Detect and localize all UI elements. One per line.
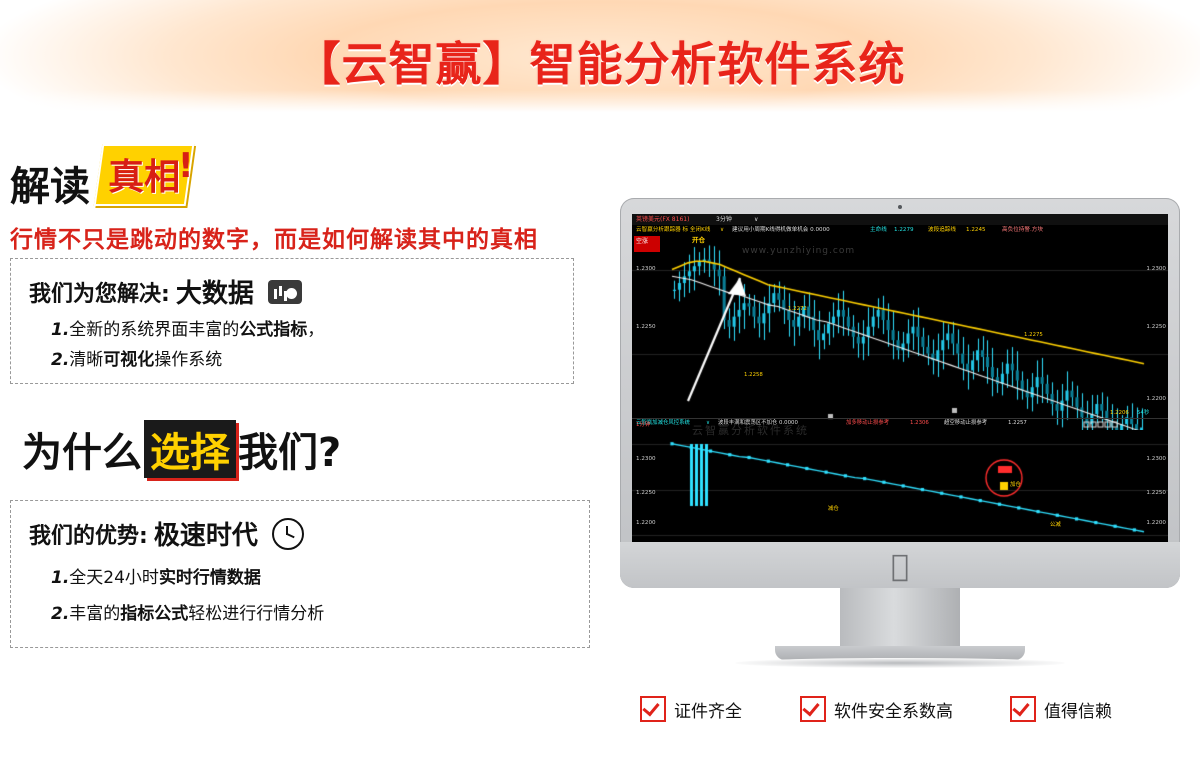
y-axis-tick-1: 1.2250 bbox=[1146, 324, 1166, 331]
sub-y-axis-left-tick-2: 1.2200 bbox=[636, 520, 656, 527]
trust-badge-2: 值得信赖 bbox=[1010, 696, 1112, 722]
benefits-item-1-text-b: 公式指标 bbox=[239, 320, 307, 340]
subpane-item-1-label: 超空移动止损参考 bbox=[944, 420, 987, 427]
benefits-item-2-text-a: 清晰 bbox=[69, 350, 103, 370]
benefits-item-1-num: 1. bbox=[51, 320, 69, 340]
subpane-item-0-value: 1.2306 bbox=[910, 420, 929, 427]
benefits-item-2-num: 2. bbox=[51, 350, 69, 370]
imac-stand bbox=[840, 588, 960, 648]
indicator-item-1-value: 1.2245 bbox=[966, 227, 986, 234]
sub-y-axis-tick-1: 1.2250 bbox=[1146, 490, 1166, 497]
sub-y-axis-tick-2: 1.2200 bbox=[1146, 520, 1166, 527]
trust-badge-2-label: 值得信赖 bbox=[1044, 697, 1112, 722]
benefits-heading-strong: 大数据 bbox=[176, 273, 254, 310]
y-axis-tick-0: 1.2300 bbox=[1146, 266, 1166, 273]
benefits-item-2: 2.清晰可视化操作系统 bbox=[51, 345, 222, 370]
watermark-top: www.yunzhiying.com bbox=[742, 246, 855, 257]
indicator-item-0-label: 主命线 bbox=[870, 227, 887, 234]
advantages-item-1-num: 1. bbox=[51, 568, 69, 588]
advantages-item-2-text-c: 轻松进行行情分析 bbox=[188, 604, 324, 624]
trading-terminal: 英镑美元(FX 8161) 3分钟 ∨ 云智赢分析跟踪器 标 全闭K线 ∨ 建议… bbox=[632, 214, 1168, 542]
imac-body: 英镑美元(FX 8161) 3分钟 ∨ 云智赢分析跟踪器 标 全闭K线 ∨ 建议… bbox=[620, 198, 1180, 588]
trust-badges: 证件齐全 软件安全系数高 值得信赖 bbox=[620, 690, 1180, 730]
benefits-item-2-text-b: 可视化 bbox=[103, 350, 154, 370]
pane-divider bbox=[632, 418, 1168, 419]
period-selector[interactable]: 3分钟 bbox=[716, 216, 732, 224]
imac-screen: 英镑美元(FX 8161) 3分钟 ∨ 云智赢分析跟踪器 标 全闭K线 ∨ 建议… bbox=[632, 214, 1168, 542]
short-signal-label: 空涨 bbox=[636, 238, 648, 246]
subpane-tag-bottom: 公减 bbox=[1050, 522, 1061, 529]
why-heading: 为什么 选择 我们? bbox=[22, 420, 341, 478]
price-tag-right: 1.2275 bbox=[1024, 332, 1043, 339]
indicator-name: 云智赢分析跟踪器 标 全闭K线 bbox=[636, 227, 710, 234]
trust-badge-0: 证件齐全 bbox=[640, 696, 742, 722]
trust-badge-0-label: 证件齐全 bbox=[674, 697, 742, 722]
check-icon bbox=[640, 696, 666, 722]
subpane-tag-reduce: 减仓 bbox=[828, 506, 839, 513]
y-axis-left-tick-1: 1.2250 bbox=[636, 324, 656, 331]
subpane-item-0-label: 加多移动止损参考 bbox=[846, 420, 889, 427]
poster-root: 【云智赢】智能分析软件系统 解读 真相 ! 行情不只是跳动的数字，而是如何解读其… bbox=[0, 0, 1200, 774]
advantages-item-2: 2.丰富的指标公式轻松进行行情分析 bbox=[51, 599, 324, 624]
check-icon bbox=[800, 696, 826, 722]
open-position-label: 开仓 bbox=[692, 236, 705, 244]
camera-icon bbox=[898, 205, 902, 209]
benefits-item-1-text-c: ， bbox=[307, 320, 324, 340]
sub-y-axis-left-tick-0: 1.2300 bbox=[636, 456, 656, 463]
trust-badge-1: 软件安全系数高 bbox=[800, 696, 953, 722]
imac-shadow bbox=[735, 658, 1065, 668]
page-title: 【云智赢】智能分析软件系统 bbox=[0, 28, 1200, 94]
indicator-name-caret-icon[interactable]: ∨ bbox=[720, 227, 724, 234]
advantages-heading: 我们的优势: 极速时代 bbox=[29, 515, 304, 552]
apple-logo-icon:  bbox=[887, 552, 913, 582]
benefits-heading-prefix: 我们为您解决: bbox=[29, 276, 170, 308]
advantages-item-1-text-a: 全天24小时 bbox=[69, 568, 159, 588]
why-suffix: 我们? bbox=[238, 420, 341, 478]
subpane-left-label: 1分钟 bbox=[636, 422, 650, 429]
clock-icon bbox=[272, 518, 304, 550]
advantages-item-2-text-b: 指标公式 bbox=[120, 604, 188, 624]
indicator-item-2-label: 高负位持警.方块 bbox=[1002, 227, 1043, 234]
risk-chart-canvas bbox=[632, 430, 1168, 540]
imac-mockup: 英镑美元(FX 8161) 3分钟 ∨ 云智赢分析跟踪器 标 全闭K线 ∨ 建议… bbox=[620, 198, 1180, 668]
benefits-heading: 我们为您解决: 大数据 bbox=[29, 273, 302, 310]
symbol-label: 英镑美元(FX 8161) bbox=[636, 216, 689, 224]
watermark-mid: 云智赢分析软件系统 bbox=[692, 424, 809, 438]
chevron-down-icon[interactable]: ∨ bbox=[754, 216, 758, 224]
why-prefix: 为什么 bbox=[22, 420, 142, 478]
header-band: 【云智赢】智能分析软件系统 bbox=[0, 0, 1200, 112]
advantages-item-2-num: 2. bbox=[51, 604, 69, 624]
price-tag-last: 1.2206 bbox=[1110, 410, 1129, 417]
check-icon bbox=[1010, 696, 1036, 722]
indicator-item-1-label: 波段追踪线 bbox=[928, 227, 956, 234]
benefits-item-1-text-a: 全新的系统界面丰富的 bbox=[69, 320, 239, 340]
left-content: 解读 真相 ! 行情不只是跳动的数字，而是如何解读其中的真相 我们为您解决: 大… bbox=[0, 120, 600, 760]
price-tag-low: 1.2258 bbox=[744, 372, 763, 379]
advantages-item-1: 1.全天24小时实时行情数据 bbox=[51, 563, 261, 588]
benefits-box: 我们为您解决: 大数据 1.全新的系统界面丰富的公式指标， 2.清晰可视化操作系… bbox=[10, 258, 574, 384]
benefits-item-1: 1.全新的系统界面丰富的公式指标， bbox=[51, 315, 324, 340]
y-axis-tick-2: 1.2200 bbox=[1146, 396, 1166, 403]
subpane-tag-add: 加仓 bbox=[1010, 482, 1021, 489]
read-truth-prefix: 解读 bbox=[10, 154, 90, 212]
advantages-item-2-text-a: 丰富的 bbox=[69, 604, 120, 624]
subtitle: 行情不只是跳动的数字，而是如何解读其中的真相 bbox=[10, 220, 538, 254]
advantages-box: 我们的优势: 极速时代 1.全天24小时实时行情数据 2.丰富的指标公式轻松进行… bbox=[10, 500, 590, 648]
price-chart-canvas bbox=[632, 236, 1168, 446]
benefits-item-2-text-c: 操作系统 bbox=[154, 350, 222, 370]
why-mark: 选择 bbox=[144, 420, 236, 478]
read-truth-highlight: 真相 bbox=[108, 148, 180, 200]
read-truth-heading: 解读 真相 ! bbox=[10, 142, 230, 204]
advantages-heading-prefix: 我们的优势: bbox=[29, 518, 148, 550]
read-truth-exclaim: ! bbox=[178, 146, 194, 186]
indicator-item-0-value: 1.2279 bbox=[894, 227, 914, 234]
advantages-item-1-text-b: 实时行情数据 bbox=[159, 568, 261, 588]
bar-chart-icon bbox=[268, 280, 302, 304]
indicator-row: 云智赢分析跟踪器 标 全闭K线 ∨ 建议用小周期K线得机做单机会 0.0000 … bbox=[632, 226, 1168, 236]
sub-y-axis-tick-0: 1.2300 bbox=[1146, 456, 1166, 463]
trust-badge-1-label: 软件安全系数高 bbox=[834, 697, 953, 722]
price-tag-mid: 1.2272 bbox=[788, 306, 807, 313]
terminal-titlebar: 英镑美元(FX 8161) 3分钟 ∨ bbox=[632, 214, 1168, 225]
advantages-heading-strong: 极速时代 bbox=[154, 515, 258, 552]
y-axis-left-tick-0: 1.2300 bbox=[636, 266, 656, 273]
sub-y-axis-left-tick-1: 1.2250 bbox=[636, 490, 656, 497]
countdown-label: 54秒 bbox=[1137, 410, 1149, 417]
indicator-advice: 建议用小周期K线得机做单机会 0.0000 bbox=[732, 227, 830, 234]
subpane-item-1-value: 1.2257 bbox=[1008, 420, 1027, 427]
